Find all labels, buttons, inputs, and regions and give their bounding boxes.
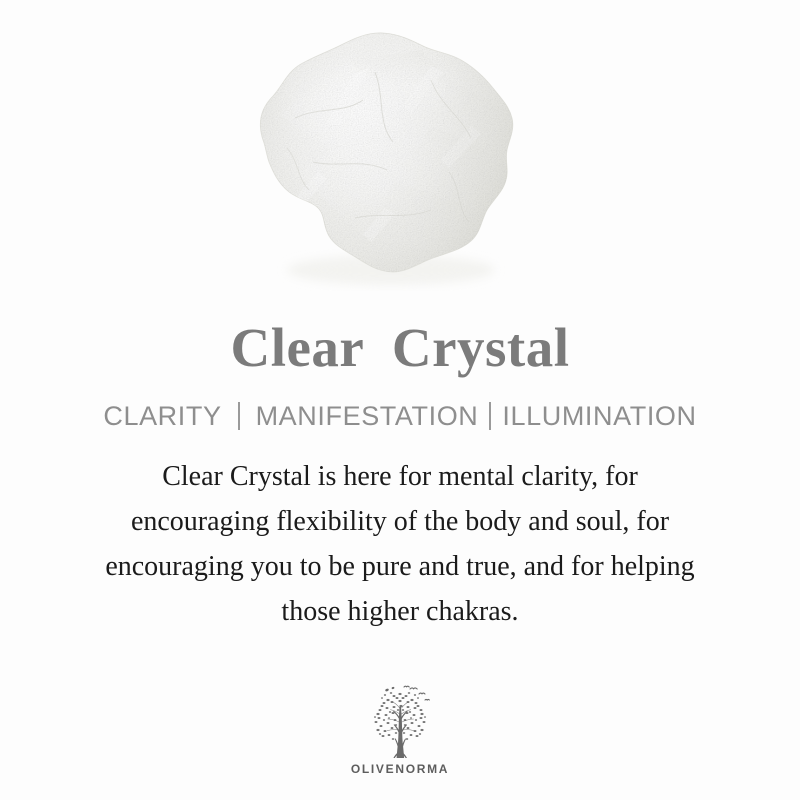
description-line: encouraging you to be pure and true, and… [40, 544, 760, 589]
description-line: those higher chakras. [40, 589, 760, 634]
brand-logo: OLIVENORMA [0, 684, 800, 775]
bird-speck-icon [385, 687, 395, 692]
raw-clear-quartz-crystal-illustration [235, 22, 540, 292]
keyword-manifestation: MANIFESTATION [256, 403, 479, 430]
product-image-area [0, 0, 800, 320]
keyword-clarity: CLARITY [103, 403, 221, 430]
brand-wordmark: OLIVENORMA [351, 763, 449, 775]
product-description: Clear Crystal is here for mental clarity… [40, 454, 760, 634]
keyword-illumination: ILLUMINATION [502, 403, 696, 430]
olive-tree-icon [363, 684, 437, 760]
keyword-separator-1 [238, 402, 240, 430]
product-info-card: Clear Crystal CLARITY MANIFESTATION ILLU… [0, 0, 800, 800]
crystal-image [235, 22, 540, 292]
keyword-row: CLARITY MANIFESTATION ILLUMINATION [103, 402, 696, 430]
keyword-separator-2 [489, 402, 491, 430]
crystal-facets [235, 22, 540, 292]
page-title: Clear Crystal [231, 320, 570, 375]
description-line: Clear Crystal is here for mental clarity… [40, 454, 760, 499]
description-line: encouraging flexibility of the body and … [40, 499, 760, 544]
